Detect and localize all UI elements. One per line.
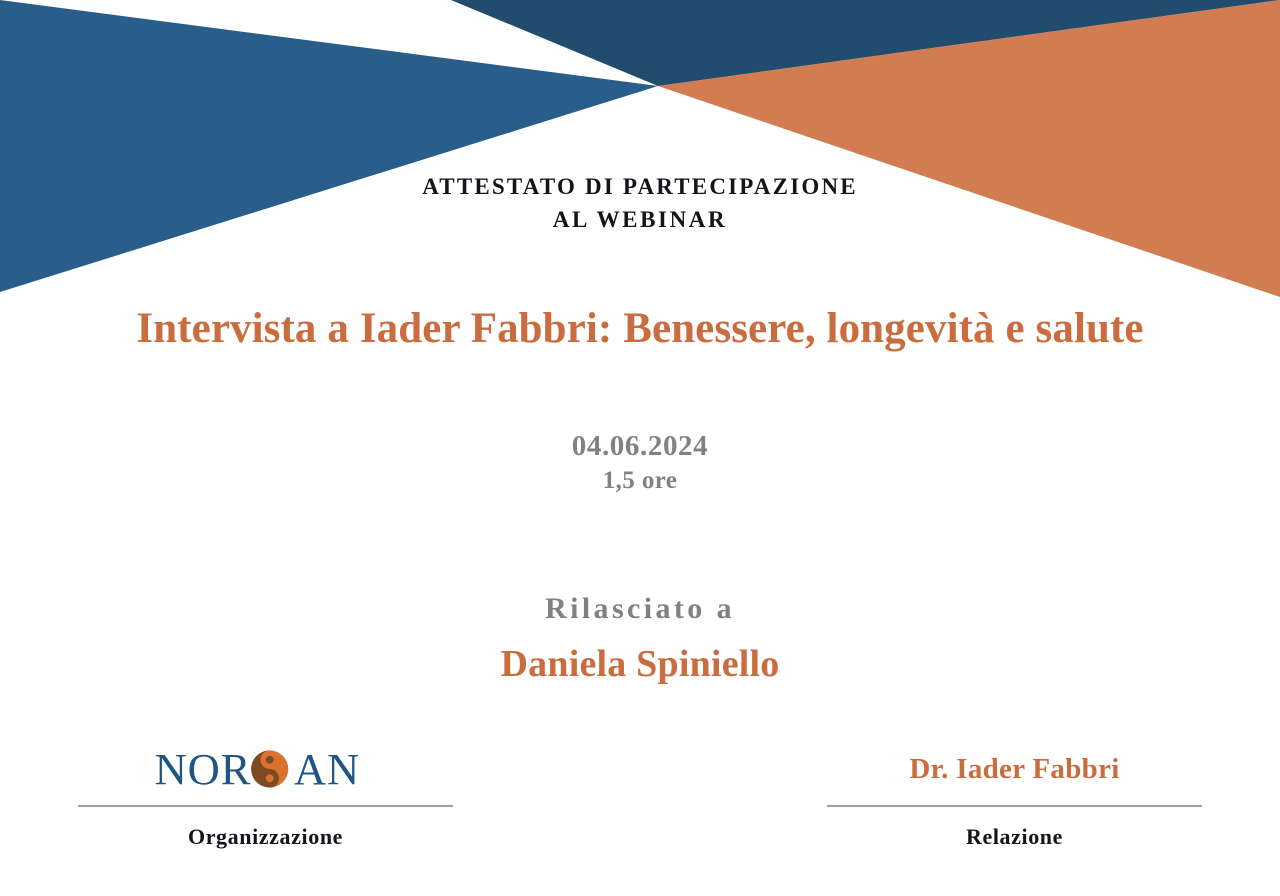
- norsan-logo: NOR AN: [154, 739, 378, 799]
- norsan-logo-text-after: AN: [293, 744, 359, 794]
- issued-to-label: Rilasciato a: [0, 592, 1280, 626]
- speaker-name: Dr. Iader Fabbri: [909, 753, 1119, 786]
- recipient-name: Daniela Spiniello: [0, 642, 1280, 686]
- banner-triangle-orange: [658, 0, 1280, 297]
- certificate-page: ATTESTATO DI PARTECIPAZIONE AL WEBINAR I…: [0, 0, 1280, 896]
- kicker-line-1: ATTESTATO DI PARTECIPAZIONE: [422, 174, 858, 199]
- event-duration: 1,5 ore: [0, 465, 1280, 497]
- banner-triangle-blue-dark: [451, 0, 1280, 86]
- organization-logo-slot: NOR AN: [154, 735, 378, 803]
- signature-row: NOR AN Organizzazione Dr. Iader Fabb: [0, 735, 1280, 885]
- event-meta: 04.06.2024 1,5 ore: [0, 428, 1280, 496]
- speaker-signature-rule: [827, 805, 1202, 807]
- certificate-kicker: ATTESTATO DI PARTECIPAZIONE AL WEBINAR: [0, 170, 1280, 237]
- signature-block-organization: NOR AN Organizzazione: [78, 735, 453, 850]
- header-geometric-banner: [0, 0, 1280, 320]
- event-title: Intervista a Iader Fabbri: Benessere, lo…: [0, 304, 1280, 353]
- norsan-logo-mark: [251, 750, 288, 787]
- kicker-line-2: AL WEBINAR: [0, 203, 1280, 236]
- signature-block-speaker: Dr. Iader Fabbri Relazione: [827, 735, 1202, 850]
- organization-signature-rule: [78, 805, 453, 807]
- speaker-signature-slot: Dr. Iader Fabbri: [909, 735, 1119, 803]
- speaker-caption: Relazione: [966, 824, 1063, 850]
- organization-caption: Organizzazione: [188, 824, 343, 850]
- norsan-logo-text-before: NOR: [154, 744, 251, 794]
- banner-triangle-blue-light: [0, 0, 658, 292]
- event-date: 04.06.2024: [0, 428, 1280, 465]
